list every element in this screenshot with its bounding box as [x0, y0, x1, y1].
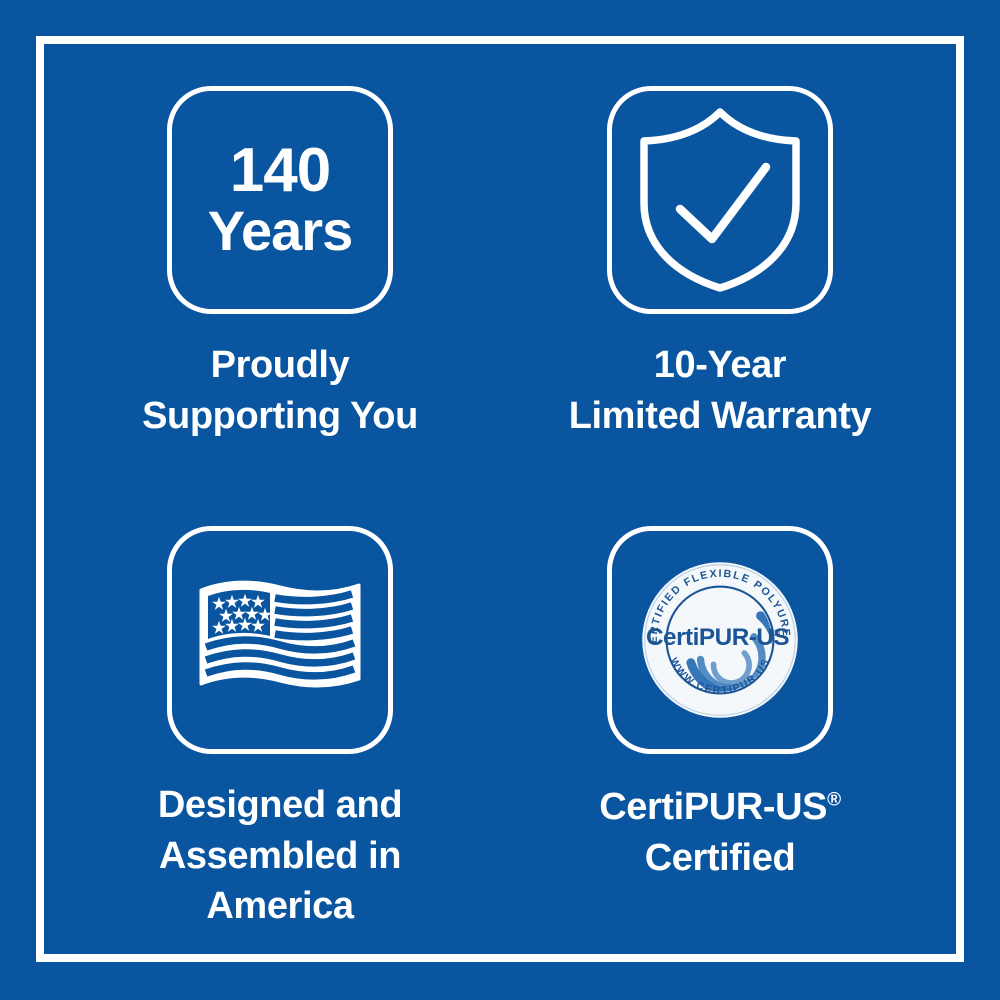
certipur-us-seal-icon-frame: CONTAINS CERTIFIED FLEXIBLE POLYURETHANE… [607, 526, 833, 754]
years-number: 140 [208, 139, 353, 202]
seal-center-wordmark: CertiPUR-US [646, 624, 789, 651]
feature-label-warranty: 10-Year Limited Warranty [569, 340, 872, 441]
shield-check-icon [632, 105, 808, 295]
feature-label-made-in-america: Designed and Assembled in America [158, 780, 402, 932]
usa-flag-icon-frame [167, 526, 393, 754]
feature-card-certipur: CONTAINS CERTIFIED FLEXIBLE POLYURETHANE… [500, 500, 940, 940]
feature-label-years-in-business: Proudly Supporting You [142, 340, 418, 441]
feature-label-certipur: CertiPUR-US®Certified [599, 782, 840, 883]
years-word: Years [208, 202, 353, 261]
shield-check-icon-frame [607, 86, 833, 314]
feature-card-made-in-america: Designed and Assembled in America [60, 500, 500, 940]
feature-card-years-in-business: 140 Years Proudly Supporting You [60, 60, 500, 500]
certipur-label-line1: CertiPUR-US [599, 786, 827, 828]
140-years-badge-icon: 140 Years [167, 86, 393, 314]
infographic-canvas: 140 Years Proudly Supporting You 10-Year… [0, 0, 1000, 1000]
years-badge-text: 140 Years [208, 139, 353, 261]
certipur-us-seal-icon: CONTAINS CERTIFIED FLEXIBLE POLYURETHANE… [639, 559, 801, 721]
registered-trademark-icon: ® [827, 789, 841, 810]
feature-card-warranty: 10-Year Limited Warranty [500, 60, 940, 500]
feature-grid: 140 Years Proudly Supporting You 10-Year… [60, 60, 940, 940]
seal-registered-mark: ® [773, 628, 780, 638]
usa-flag-icon [197, 574, 363, 706]
certipur-label-line2: Certified [645, 837, 796, 879]
